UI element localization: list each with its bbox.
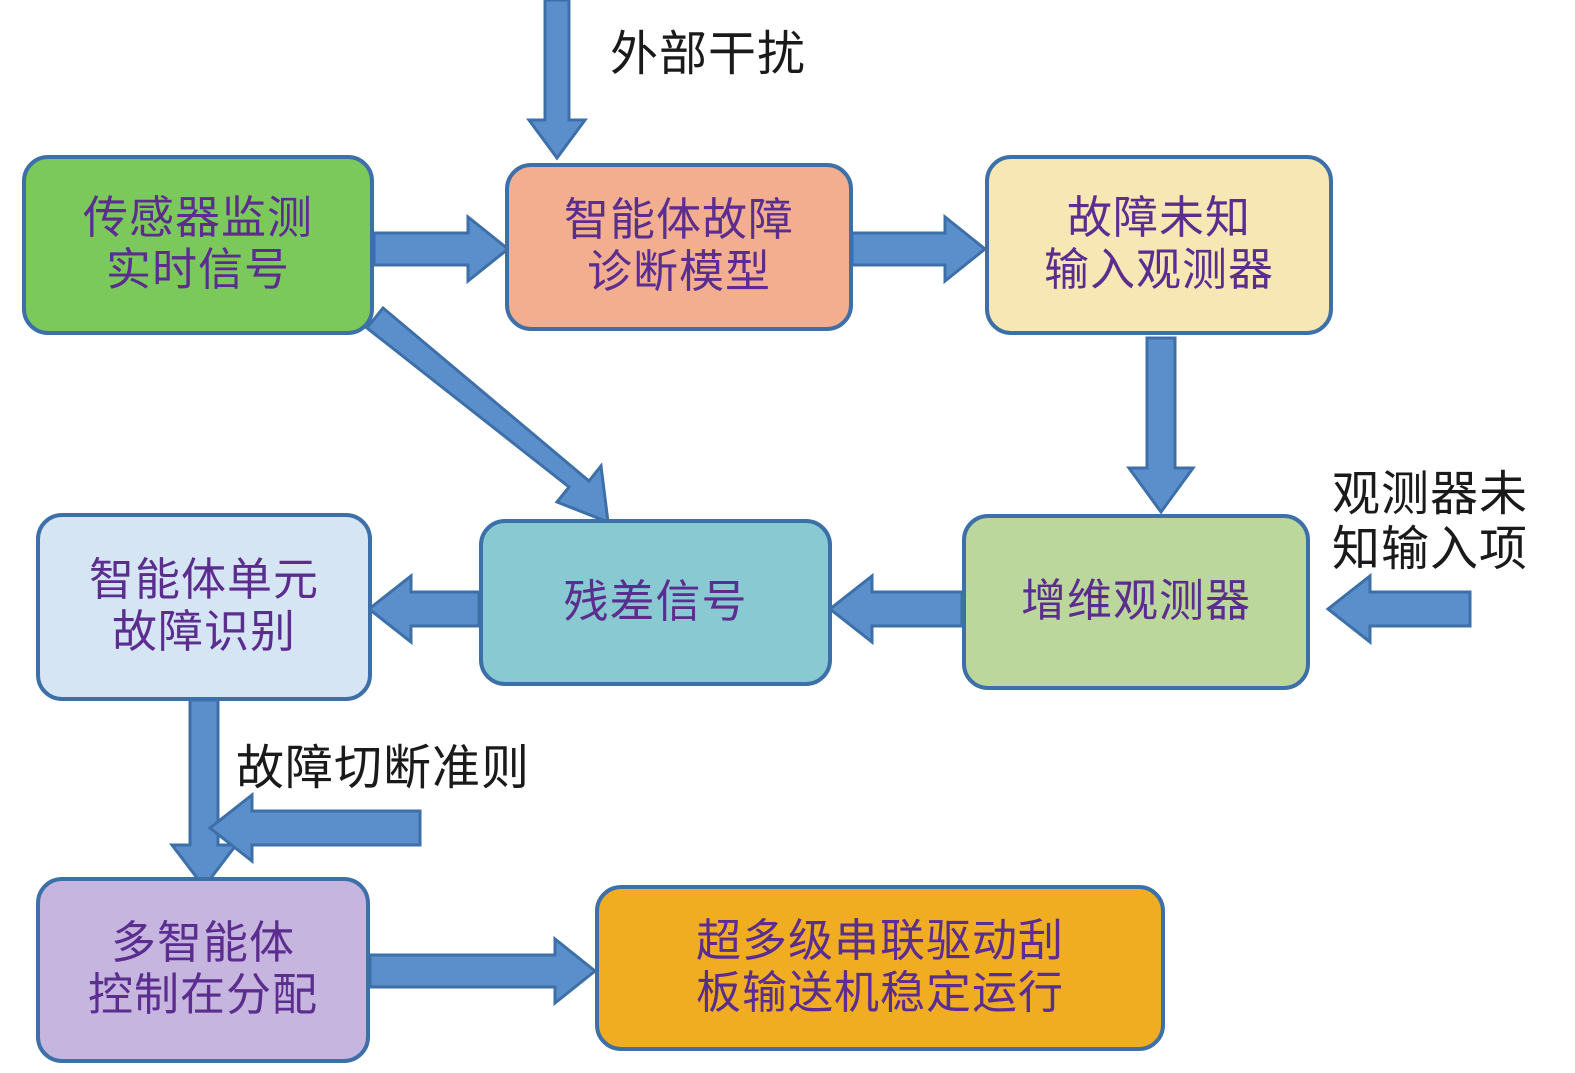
node-agent-unit-fault-identification[interactable]: 智能体单元 故障识别 [36, 513, 372, 701]
label-observer-unknown-input: 观测器未 知输入项 [1332, 468, 1528, 577]
node-multi-agent-control-reallocation[interactable]: 多智能体 控制在分配 [36, 877, 370, 1063]
arrow-uio-to-augmented [1129, 338, 1193, 512]
node-agent-fault-diagnosis-model[interactable]: 智能体故障 诊断模型 [505, 163, 853, 331]
label-fault-cutoff-criterion: 故障切断准则 [236, 742, 530, 797]
arrow-unknowninput-to-augmented [1328, 576, 1470, 642]
arrow-identify-to-reallocate [172, 700, 236, 887]
node-residual-signal[interactable]: 残差信号 [479, 519, 832, 686]
arrow-augmented-to-residual [830, 576, 962, 642]
node-fault-unknown-input-observer[interactable]: 故障未知 输入观测器 [985, 155, 1333, 335]
node-sensor-realtime-signal[interactable]: 传感器监测 实时信号 [22, 155, 374, 335]
arrow-residual-to-identify [369, 576, 479, 642]
label-external-disturbance: 外部干扰 [610, 28, 806, 83]
arrow-sensor-to-diagnosis [374, 217, 508, 281]
arrow-diagnosis-to-uio [852, 217, 985, 281]
flowchart-canvas: 传感器监测 实时信号 智能体故障 诊断模型 故障未知 输入观测器 智能体单元 故… [0, 0, 1575, 1073]
arrow-reallocate-to-stable [370, 939, 595, 1003]
arrow-sensor-to-residual [367, 308, 608, 522]
arrow-external-to-diagnosis [529, 0, 585, 158]
node-stable-operation-conveyor[interactable]: 超多级串联驱动刮 板输送机稳定运行 [595, 885, 1165, 1051]
node-augmented-observer[interactable]: 增维观测器 [962, 514, 1310, 690]
arrow-fault-cutoff-criterion [210, 795, 420, 861]
